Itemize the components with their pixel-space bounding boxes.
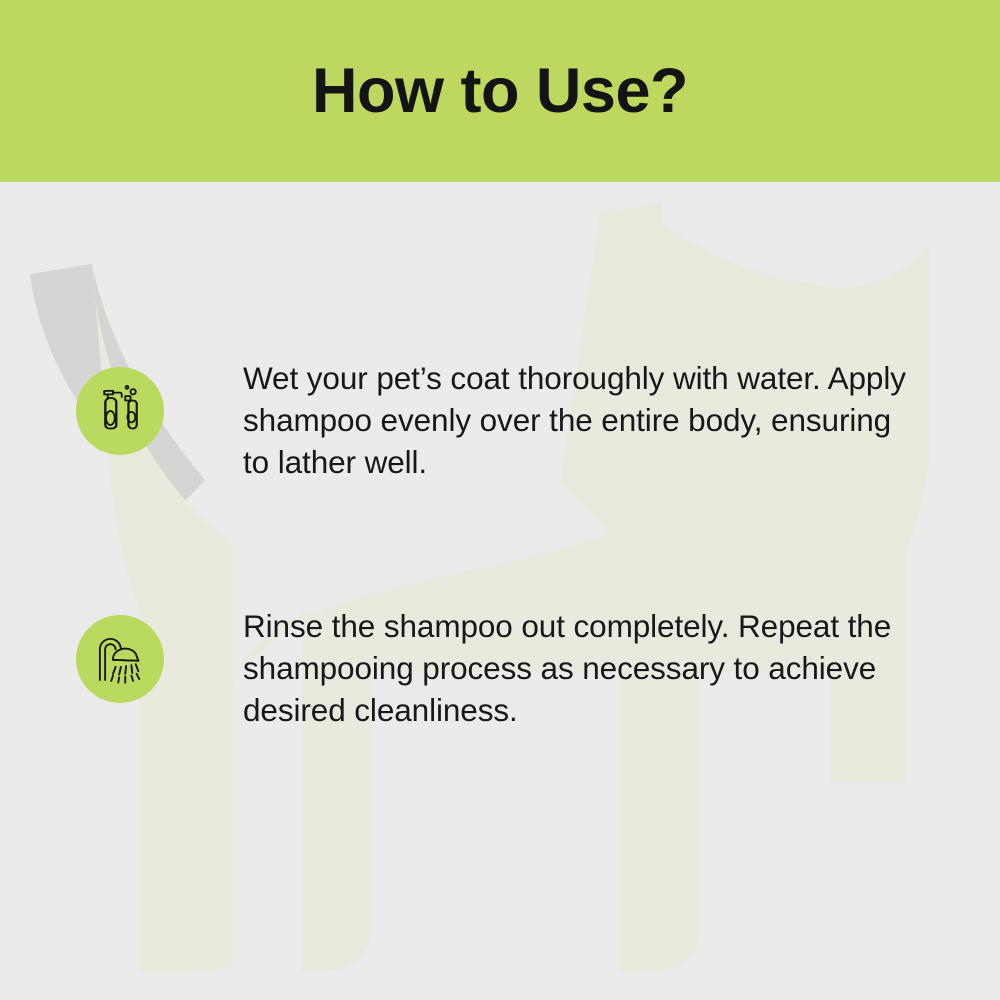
step-item: Wet your pet’s coat thoroughly with wate…	[76, 357, 923, 483]
how-to-use-infographic: How to Use?	[0, 0, 1000, 1000]
shower-head-icon	[76, 615, 164, 703]
steps-list: Wet your pet’s coat thoroughly with wate…	[0, 182, 1000, 1000]
shampoo-bottles-icon	[76, 367, 164, 455]
step-description: Rinse the shampoo out completely. Repeat…	[243, 605, 923, 731]
step-item: Rinse the shampoo out completely. Repeat…	[76, 605, 923, 731]
header-banner: How to Use?	[0, 0, 1000, 182]
step-description: Wet your pet’s coat thoroughly with wate…	[243, 357, 923, 483]
page-title: How to Use?	[312, 60, 688, 123]
